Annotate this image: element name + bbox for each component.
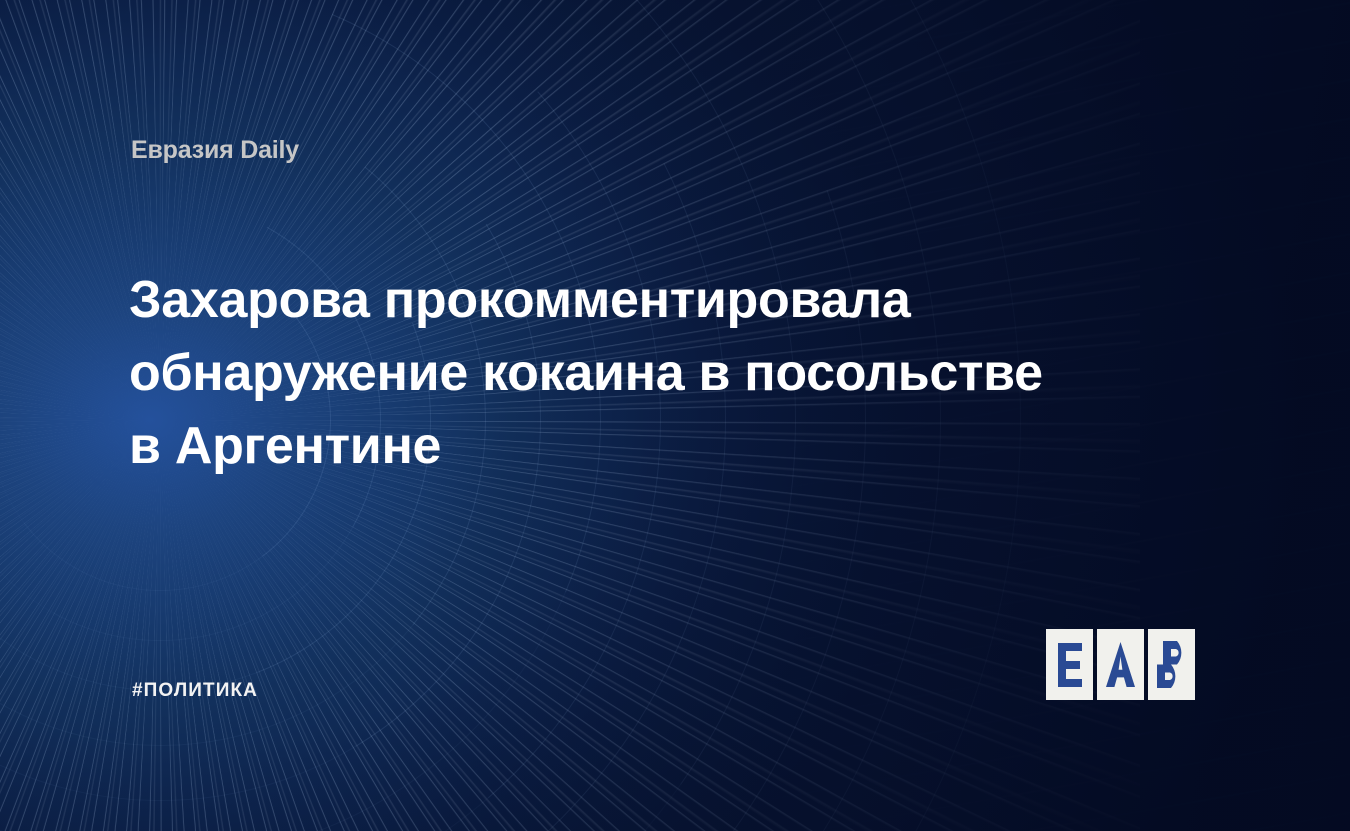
logo-tile-a — [1097, 629, 1144, 700]
category-tag-politika[interactable]: #ПОЛИТИКА — [132, 680, 258, 702]
news-card: Евразия Daily Захарова прокомментировала… — [0, 0, 1350, 831]
headline-line: в Аргентине — [129, 410, 1129, 483]
headline-line: Захарова прокомментировала — [129, 264, 1129, 337]
headline: Захарова прокомментировала обнаружение к… — [129, 264, 1129, 483]
logo-tile-d — [1148, 629, 1195, 700]
ead-logo[interactable] — [1046, 629, 1195, 700]
headline-line: обнаружение кокаина в посольстве — [129, 337, 1129, 410]
logo-tile-e — [1046, 629, 1093, 700]
brand-title: Евразия Daily — [131, 136, 299, 165]
